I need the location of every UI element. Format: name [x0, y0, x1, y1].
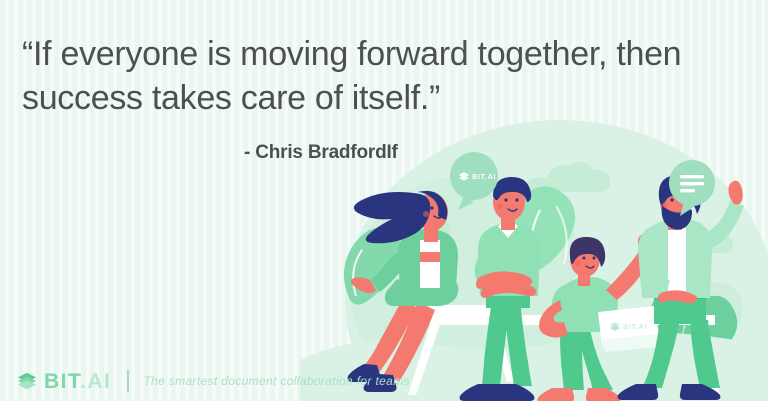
woman-mouth — [434, 216, 443, 218]
brand-bit: BIT — [44, 370, 80, 393]
bearded-leg-1 — [642, 320, 680, 388]
bearded-head — [660, 183, 692, 221]
laptop-woman-eye-right — [593, 257, 596, 260]
bearded-eye-left — [670, 198, 673, 201]
brand-ai: AI — [87, 370, 111, 393]
laptop-woman-leg-1 — [560, 328, 584, 390]
man-forearm-upper — [476, 271, 532, 288]
bearded-hand-rest — [658, 290, 697, 303]
bearded-leg-2 — [690, 320, 720, 388]
woman-cardigan — [398, 229, 458, 288]
laptop-woman-top — [552, 277, 618, 332]
bearded-shorts — [654, 292, 706, 324]
quote-text: “If everyone is moving forward together,… — [22, 32, 682, 120]
laptop-woman-blush — [575, 260, 581, 266]
bench-leg-right — [690, 325, 720, 395]
background-blob-mid — [350, 175, 590, 401]
person-woman-seated — [348, 191, 515, 392]
man-forearm-lower — [481, 282, 536, 298]
man-hair — [493, 177, 531, 202]
leaf-vein-right-2 — [663, 302, 670, 340]
laptop-woman-arm-raised — [606, 250, 653, 300]
laptop-woman-hair-bun — [583, 241, 595, 253]
man-arms-sleeves — [475, 254, 539, 289]
cloud-shape-right — [670, 235, 733, 255]
man-neck — [501, 216, 515, 230]
leaf-right-backdrop — [682, 282, 743, 368]
laptop-woman-head — [570, 241, 600, 277]
woman-hand — [351, 277, 376, 293]
seat-plank-left — [400, 305, 505, 316]
leaf-right-1 — [680, 296, 737, 373]
quote-block: “If everyone is moving forward together,… — [22, 32, 682, 164]
bench-leg-left — [408, 325, 440, 395]
woman-hair-long — [354, 192, 430, 243]
laptop-woman-arm-lower — [539, 300, 568, 338]
stacked-layers-icon — [16, 370, 38, 392]
man-leg-right — [503, 300, 532, 386]
leaf-right-2 — [648, 291, 684, 351]
woman-hair-top — [418, 191, 447, 220]
man-blush — [497, 203, 503, 209]
bearded-hair — [659, 175, 701, 214]
footer-brand-bar: BIT.AI The smartest document collaborati… — [16, 370, 410, 392]
woman-eye-right — [440, 206, 443, 209]
leaf-vein-center-1 — [530, 210, 540, 270]
bearded-eye-right — [681, 198, 684, 201]
laptop-woman-eye-left — [583, 257, 586, 260]
man-leg-left — [482, 300, 510, 386]
bearded-arm-raised — [700, 200, 744, 248]
quote-card: BIT.AI — [0, 0, 768, 401]
svg-text:BIT.AI: BIT.AI — [472, 174, 496, 181]
laptop-woman-mouth — [586, 266, 594, 268]
bearded-cardigan — [638, 218, 712, 298]
brand-name: BIT.AI — [44, 371, 111, 392]
man-eye-right — [515, 198, 518, 201]
man-shirt — [478, 222, 540, 296]
woman-top-stripe — [420, 252, 440, 262]
woman-blush — [423, 211, 429, 217]
bearded-tank-top — [668, 228, 686, 300]
beard — [662, 204, 692, 230]
woman-head — [416, 193, 448, 231]
person-man-bearded — [618, 175, 744, 400]
brand-separator — [127, 370, 129, 392]
laptop-woman-neck — [578, 272, 590, 286]
speech-bubble-right — [669, 160, 715, 216]
woman-skirt — [385, 274, 458, 306]
woman-neck — [424, 226, 438, 242]
bearded-neck — [668, 216, 682, 230]
leaf-left-1 — [344, 228, 402, 305]
bearded-hand-raised — [728, 181, 742, 205]
bearded-blush — [662, 202, 668, 208]
bearded-shoe-2 — [680, 384, 721, 400]
svg-text:BIT.AI: BIT.AI — [623, 324, 647, 331]
man-mouth — [508, 209, 517, 211]
woman-arm-sleeve — [370, 244, 416, 292]
laptop-woman-leg-2 — [577, 330, 613, 390]
text-lines-icon — [680, 175, 704, 192]
man-shoe-right — [490, 384, 535, 401]
leaf-vein-center-2 — [556, 206, 567, 264]
laptop-bitai-logo: BIT.AI — [610, 322, 647, 331]
man-shoe-left — [460, 384, 511, 401]
brand-tagline: The smartest document collaboration for … — [143, 375, 410, 387]
man-eye-left — [504, 198, 507, 201]
quote-attribution: - Chris BradfordIf — [22, 120, 682, 164]
laptop-screen — [598, 306, 660, 346]
cloud-shape-top — [518, 162, 610, 192]
laptop-woman-shoe-1 — [538, 388, 575, 401]
man-head — [493, 183, 525, 221]
laptop-woman-hair — [570, 237, 605, 267]
person-woman-laptop: BIT.AI — [538, 234, 669, 401]
laptop-base — [600, 334, 668, 352]
person-man-standing — [460, 177, 540, 401]
bench-top — [415, 315, 715, 325]
bearded-arm-rest — [645, 248, 670, 294]
laptop-woman-shoe-2 — [586, 388, 621, 401]
woman-inner-top — [420, 240, 440, 288]
woman-leg-back — [364, 300, 418, 374]
speech-bubble-right-body — [669, 160, 715, 206]
seat-leg-left-2 — [487, 316, 514, 382]
bubble-bitai-logo-icon: BIT.AI — [459, 172, 496, 181]
leaf-center-1 — [510, 186, 575, 274]
man-hips — [486, 288, 530, 308]
woman-eye-left — [430, 206, 433, 209]
bearded-shoe-1 — [618, 384, 659, 400]
laptop-woman-hand-raised — [638, 234, 652, 256]
leaf-vein-left-1 — [353, 250, 362, 296]
speech-bubble-right-tail — [680, 202, 694, 216]
cloud-shape-left — [390, 220, 450, 240]
speech-bubble-left-tail — [458, 196, 474, 210]
leaf-vein-right-1 — [698, 312, 708, 358]
man-collar — [498, 223, 518, 238]
